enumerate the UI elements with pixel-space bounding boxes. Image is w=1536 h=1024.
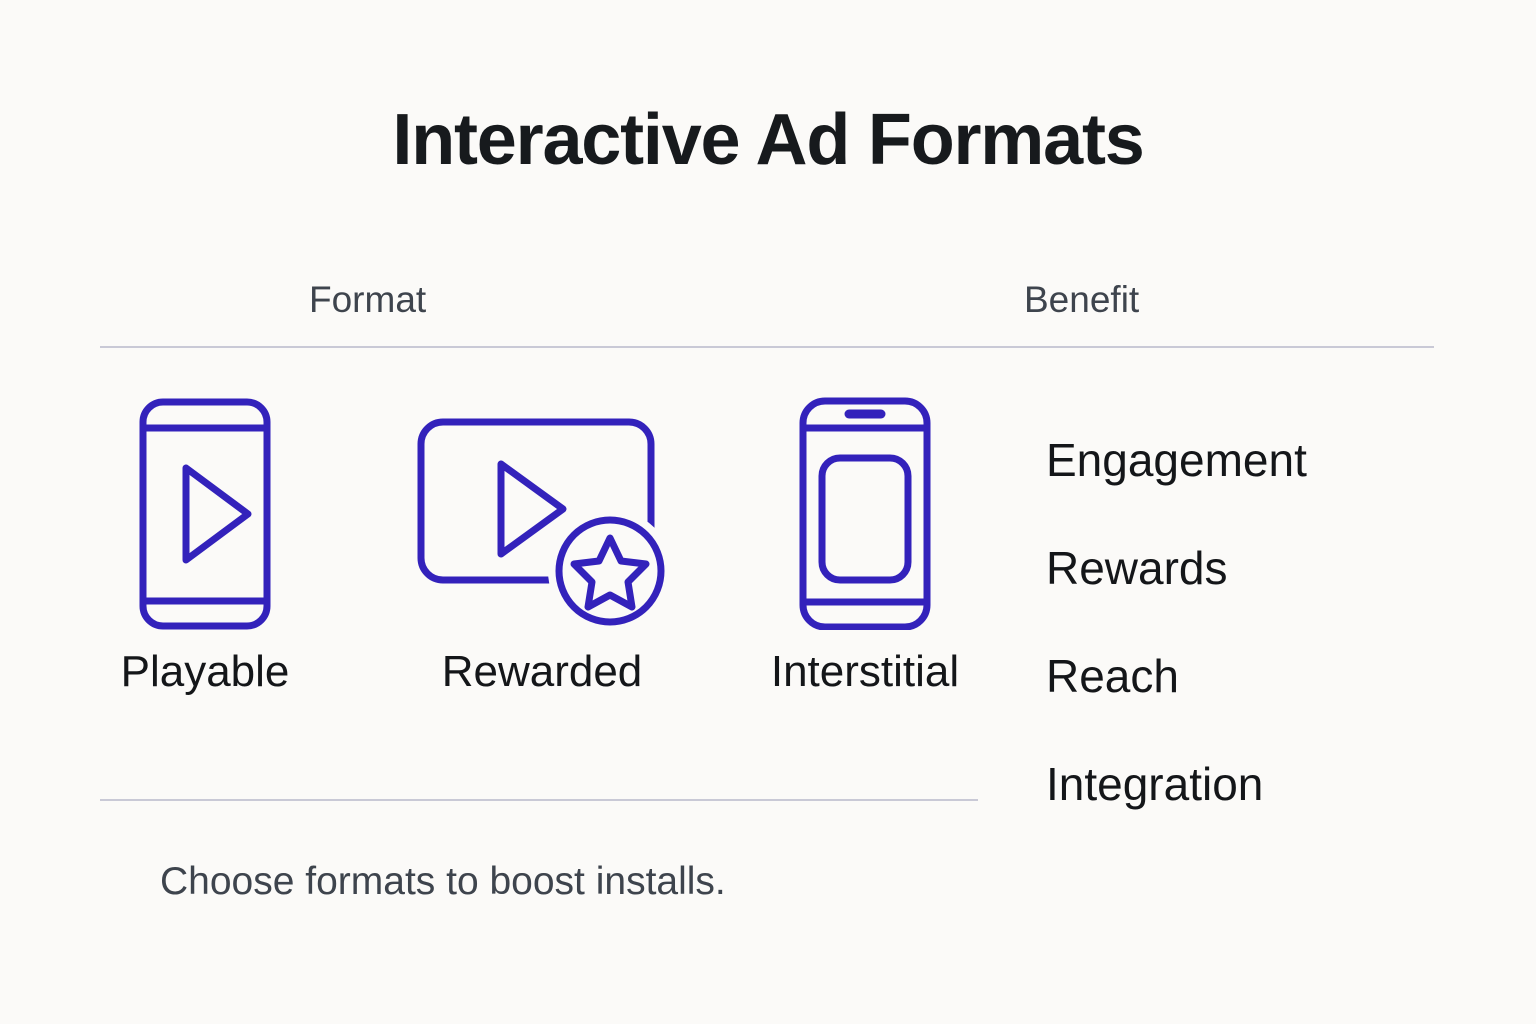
header-divider xyxy=(100,346,1434,348)
column-header-format: Format xyxy=(309,281,426,318)
benefit-item: Integration xyxy=(1046,761,1466,869)
format-cell-playable[interactable]: Playable xyxy=(55,390,355,694)
page-title: Interactive Ad Formats xyxy=(0,104,1536,176)
slide-canvas: Interactive Ad Formats Format Benefit Pl… xyxy=(0,0,1536,1024)
format-cell-interstitial[interactable]: Interstitial xyxy=(715,390,1015,694)
benefit-item: Rewards xyxy=(1046,545,1466,653)
caption-text: Choose formats to boost installs. xyxy=(160,862,726,901)
phone-overlay-icon xyxy=(715,390,1015,630)
column-header-benefit: Benefit xyxy=(1024,281,1139,318)
phone-play-icon xyxy=(55,390,355,630)
format-cell-rewarded[interactable]: Rewarded xyxy=(392,390,692,694)
benefit-item: Reach xyxy=(1046,653,1466,761)
format-label: Rewarded xyxy=(392,650,692,694)
format-label: Interstitial xyxy=(715,650,1015,694)
benefit-list: Engagement Rewards Reach Integration xyxy=(1046,437,1466,869)
format-label: Playable xyxy=(55,650,355,694)
benefit-item: Engagement xyxy=(1046,437,1466,545)
footer-divider xyxy=(100,799,978,801)
video-star-badge-icon xyxy=(392,390,692,630)
